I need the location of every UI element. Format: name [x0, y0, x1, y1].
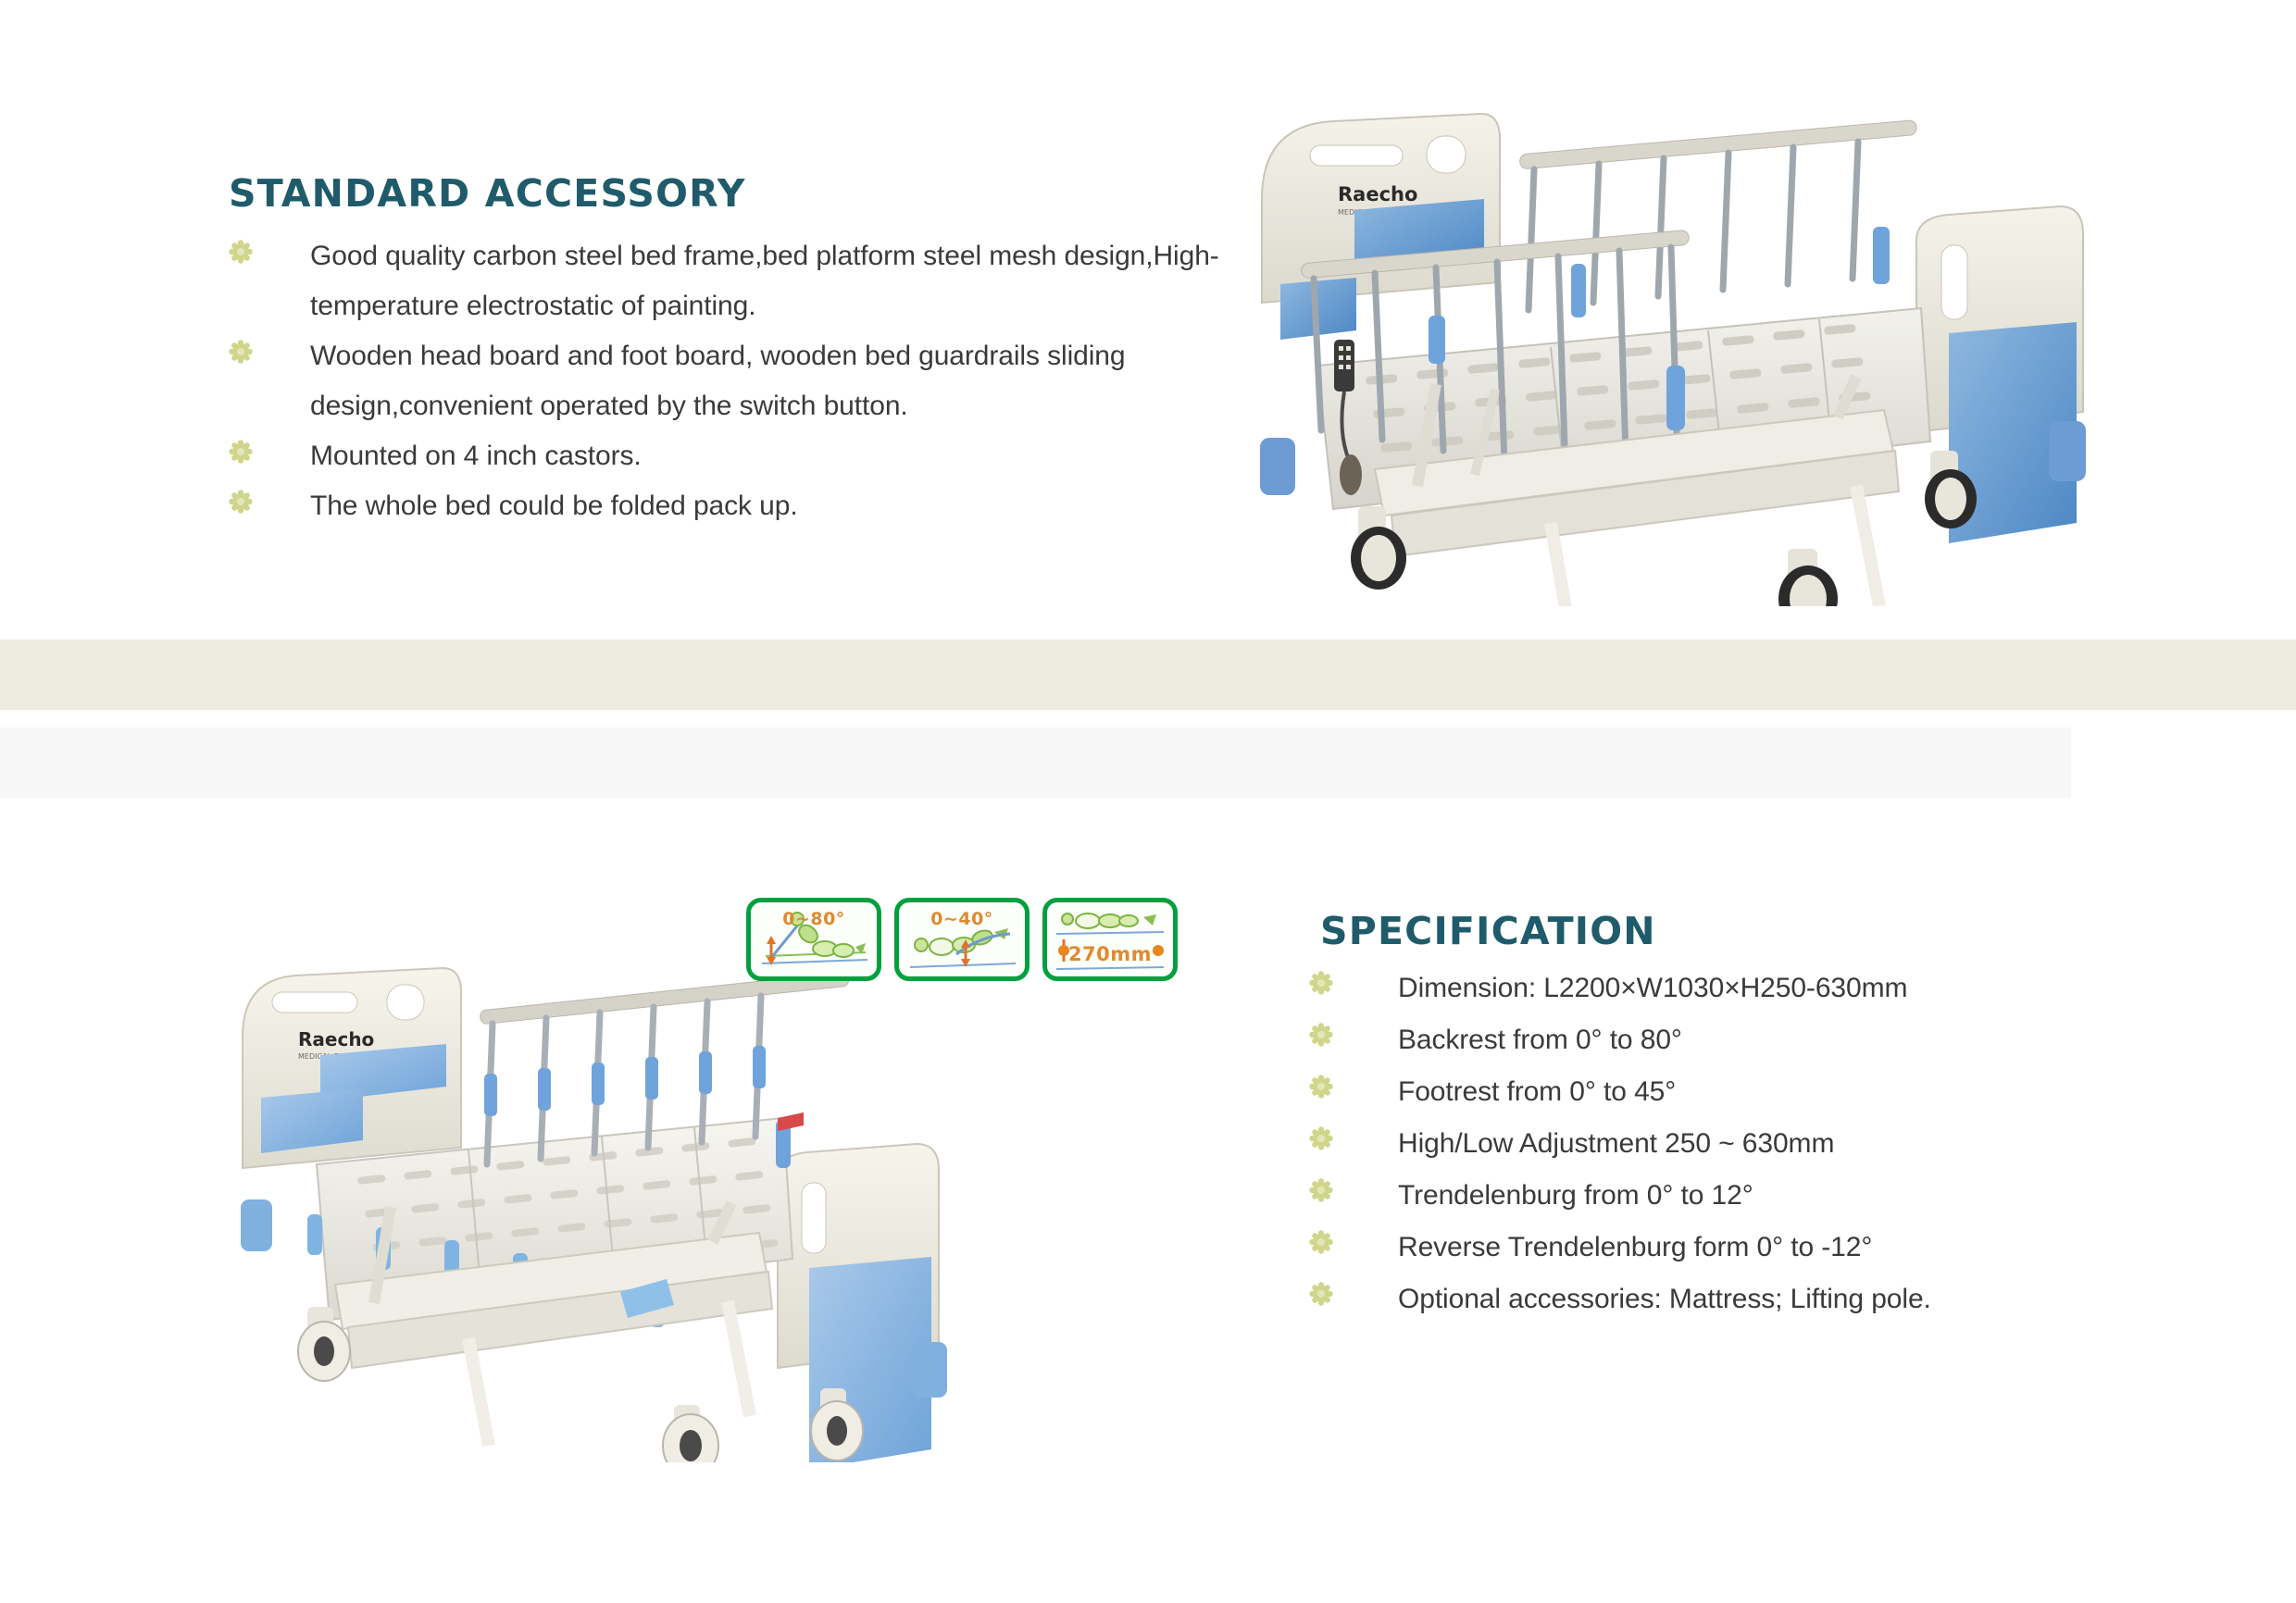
list-item: Footrest from 0° to 45°: [1309, 1066, 1931, 1117]
standard-accessory-heading: STANDARD ACCESSORY: [229, 171, 746, 216]
list-item-label: Backrest from 0° to 80°: [1398, 1014, 1682, 1065]
flower-bullet-icon: [1309, 1178, 1333, 1202]
section-divider-beige-band: [0, 640, 2296, 710]
specification-list: Dimension: L2200×W1030×H250-630mm Backre…: [1309, 963, 1931, 1325]
list-item-label: The whole bed could be folded pack up.: [310, 481, 798, 531]
badge-label: 0~40°: [899, 909, 1025, 929]
flower-bullet-icon: [229, 240, 253, 264]
list-item-label: Mounted on 4 inch castors.: [310, 431, 642, 481]
flower-bullet-icon: [1309, 1023, 1333, 1047]
list-item: Wooden head board and foot board, wooden…: [229, 331, 1227, 431]
badge-label: 270mm: [1047, 943, 1173, 965]
hospital-bed-image-bottom: Raecho MEDICAL EQUIPMENT: [231, 935, 1055, 1462]
hospital-bed-image-top: Raecho MEDICAL EQUIPMENT: [1245, 88, 2180, 606]
list-item-label: Reverse Trendelenburg form 0° to -12°: [1398, 1222, 1872, 1273]
list-item-label: Wooden head board and foot board, wooden…: [310, 331, 1227, 431]
list-item: Reverse Trendelenburg form 0° to -12°: [1309, 1222, 1931, 1273]
flower-bullet-icon: [1309, 1126, 1333, 1150]
specification-heading: SPECIFICATION: [1320, 909, 1656, 953]
list-item-label: Optional accessories: Mattress; Lifting …: [1398, 1274, 1931, 1324]
svg-text:Raecho: Raecho: [298, 1028, 374, 1050]
flower-bullet-icon: [1309, 1282, 1333, 1306]
feature-badge-row: 0~80° 0~40° 270mm: [746, 898, 1178, 981]
list-item-label: Trendelenburg from 0° to 12°: [1398, 1170, 1753, 1221]
flower-bullet-icon: [1309, 1075, 1333, 1099]
list-item: Trendelenburg from 0° to 12°: [1309, 1170, 1931, 1221]
list-item: Backrest from 0° to 80°: [1309, 1014, 1931, 1065]
badge-height-adjustment: 270mm: [1042, 898, 1178, 981]
list-item: The whole bed could be folded pack up.: [229, 481, 1227, 531]
section-divider-grey-band: [0, 727, 2071, 798]
list-item: Good quality carbon steel bed frame,bed …: [229, 231, 1227, 331]
flower-bullet-icon: [1309, 971, 1333, 995]
list-item: Optional accessories: Mattress; Lifting …: [1309, 1274, 1931, 1324]
list-item: Mounted on 4 inch castors.: [229, 431, 1227, 481]
flower-bullet-icon: [1309, 1230, 1333, 1254]
list-item: Dimension: L2200×W1030×H250-630mm: [1309, 963, 1931, 1013]
list-item: High/Low Adjustment 250 ~ 630mm: [1309, 1118, 1931, 1169]
flower-bullet-icon: [229, 440, 253, 464]
list-item-label: Dimension: L2200×W1030×H250-630mm: [1398, 963, 1907, 1013]
list-item-label: Footrest from 0° to 45°: [1398, 1066, 1676, 1117]
flower-bullet-icon: [229, 490, 253, 514]
badge-backrest-elevation: 0~80°: [746, 898, 881, 981]
flower-bullet-icon: [229, 340, 253, 364]
badge-footrest-elevation: 0~40°: [894, 898, 1029, 981]
list-item-label: High/Low Adjustment 250 ~ 630mm: [1398, 1118, 1834, 1169]
list-item-label: Good quality carbon steel bed frame,bed …: [310, 231, 1227, 331]
product-brochure-page: { "page": { "background_color": "#ffffff…: [0, 0, 2296, 1603]
badge-label: 0~80°: [751, 909, 877, 929]
standard-accessory-list: Good quality carbon steel bed frame,bed …: [229, 231, 1227, 531]
svg-text:Raecho: Raecho: [1338, 183, 1417, 205]
